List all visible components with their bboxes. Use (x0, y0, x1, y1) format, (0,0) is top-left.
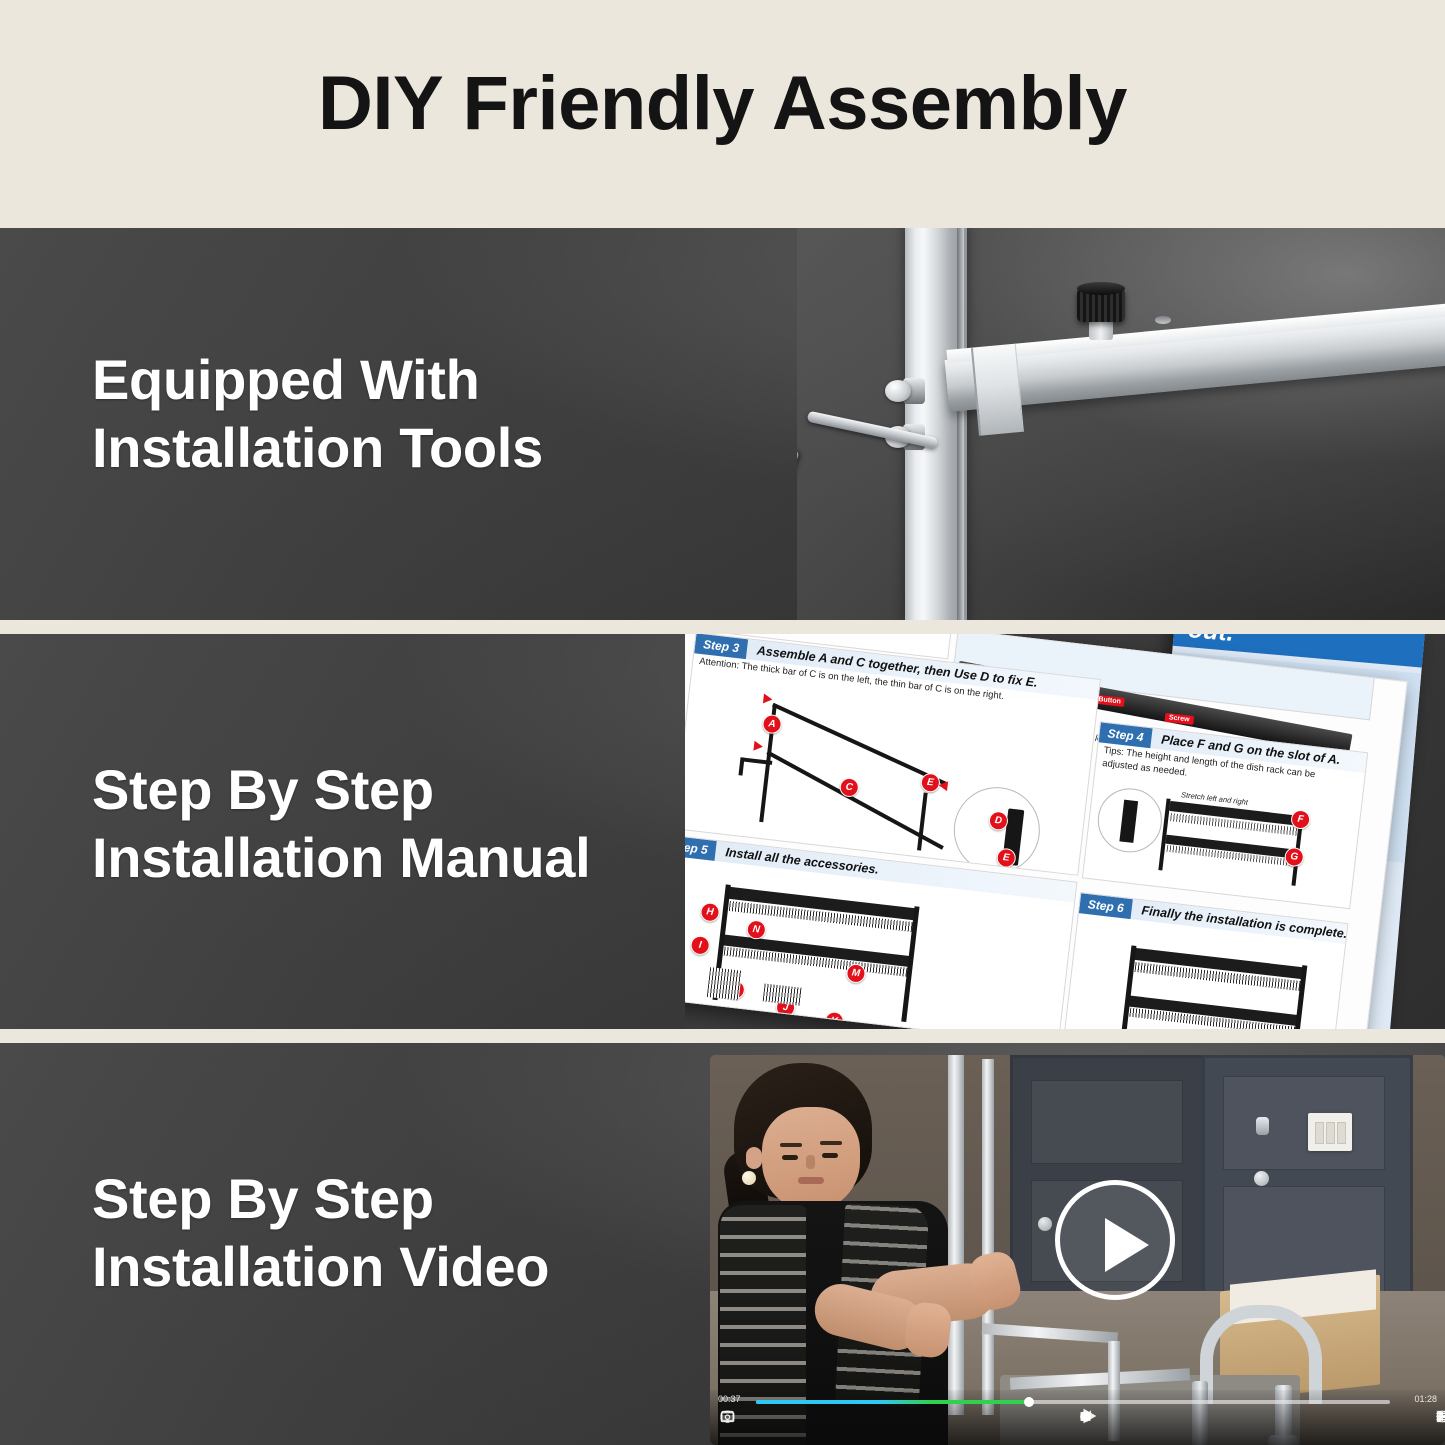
current-time-label: 00:37 (718, 1394, 741, 1404)
band-separator (0, 620, 1445, 634)
switch-toggle (1326, 1122, 1335, 1144)
earring (742, 1171, 756, 1185)
manual-cell-step4: Step 4 Place F and G on the slot of A. T… (1082, 721, 1368, 909)
tools-product-photo (797, 228, 1445, 620)
marker-i: I (690, 935, 711, 956)
lips (798, 1177, 824, 1184)
product-infographic: DIY Friendly Assembly Equipped With Inst… (0, 0, 1445, 1445)
eye-left (782, 1155, 798, 1160)
menu-icon[interactable] (1435, 1409, 1445, 1424)
section-video: Step By Step Installation Video (0, 1043, 1445, 1445)
header-band: DIY Friendly Assembly (0, 0, 1445, 228)
arrow-right-icon (753, 741, 763, 752)
door-right (1202, 1055, 1413, 1311)
beam-collar (971, 344, 1024, 436)
eyebrow-right (820, 1141, 842, 1145)
video-control-bar[interactable]: 00:37 01:28 (710, 1390, 1445, 1445)
progress-scrubber[interactable] (756, 1400, 1390, 1404)
knob-shaft (1089, 320, 1113, 340)
door-knob-left (1038, 1217, 1052, 1231)
manual-cell-step6: Step 6 Finally the installation is compl… (1061, 892, 1349, 1029)
person-assembling (710, 1055, 1000, 1445)
step6-badge: Step 6 (1079, 893, 1133, 919)
light-switch-plate (1308, 1113, 1352, 1151)
arrow-left-icon (938, 780, 948, 791)
frame-foot-leg (738, 757, 744, 775)
section-video-heading: Step By Step Installation Video (92, 1165, 549, 1302)
marker-a: A (762, 714, 783, 735)
door-deadbolt (1256, 1117, 1269, 1135)
band-separator (0, 1029, 1445, 1043)
section-tools-heading: Equipped With Installation Tools (92, 346, 543, 483)
scrubber-handle[interactable] (1024, 1397, 1034, 1407)
screenshot-camera-icon[interactable] (720, 1409, 735, 1424)
section-manual: Step By Step Installation Manual out. D (0, 634, 1445, 1029)
video-player[interactable]: 00:37 01:28 (710, 1055, 1445, 1445)
frame-diagonal-bottom (766, 751, 944, 850)
bolt-head (885, 380, 911, 402)
section-manual-heading: Step By Step Installation Manual (92, 756, 590, 893)
flyer-band-text: out. (1187, 634, 1235, 648)
progress-bar (756, 1400, 1029, 1404)
door-panel (1223, 1076, 1385, 1170)
nose (806, 1155, 815, 1169)
arrow-right-icon (763, 693, 773, 704)
frame-vertical-right (917, 793, 928, 851)
screw-tag: Screw (1164, 713, 1193, 725)
replay-icon[interactable] (1078, 1409, 1093, 1424)
switch-toggle (1337, 1122, 1346, 1144)
switch-toggle (1315, 1122, 1324, 1144)
marker-h: H (699, 902, 720, 923)
post-edge (957, 228, 964, 620)
ear (746, 1147, 762, 1169)
bolt-upper (885, 378, 929, 404)
black-knob-top (1077, 282, 1125, 295)
door-panel (1031, 1080, 1183, 1164)
play-icon (1105, 1218, 1149, 1272)
hand-left (903, 1301, 952, 1359)
step5-badge: Step 5 (685, 835, 717, 861)
screw-hole (1155, 316, 1171, 324)
frame-diagonal-top (772, 703, 946, 786)
door-knob-right (1254, 1171, 1269, 1186)
page-title: DIY Friendly Assembly (0, 60, 1445, 147)
manual-sheet: B needs. sink, you can choose whether to… (685, 634, 1408, 1029)
step6-title: Finally the installation is complete. (1140, 900, 1348, 944)
play-button-overlay[interactable] (1055, 1180, 1175, 1300)
eye-right (822, 1153, 838, 1158)
accessory-basket (707, 967, 742, 1000)
section-tools: Equipped With Installation Tools (0, 228, 1445, 620)
duration-label: 01:28 (1414, 1394, 1437, 1404)
accessory-tray (763, 983, 803, 1005)
manual-photo: out. D Appreciation kali (685, 634, 1445, 1029)
eyebrow-left (780, 1143, 802, 1147)
